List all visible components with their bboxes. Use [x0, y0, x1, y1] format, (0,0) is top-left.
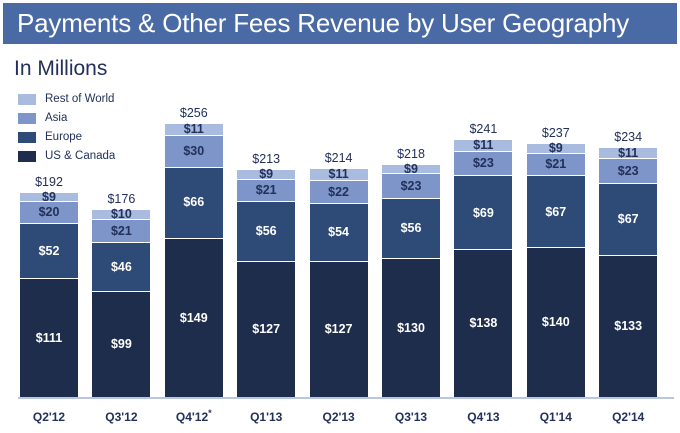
bar-segment-us-canada[interactable]: $149 — [165, 238, 223, 397]
bar-group[interactable]: $9$23$56$130$218Q3'13 — [382, 0, 440, 433]
bar-group[interactable]: $9$21$56$127$213Q1'13 — [237, 0, 295, 433]
x-axis-category-label: Q4'12* — [159, 408, 229, 424]
x-axis-category-label: Q1'13 — [231, 410, 301, 424]
stacked-bar[interactable]: $9$20$52$111 — [20, 192, 78, 398]
stacked-bar[interactable]: $9$21$56$127 — [237, 169, 295, 397]
bar-group[interactable]: $11$22$54$127$214Q2'13 — [310, 0, 368, 433]
bar-segment-europe[interactable]: $67 — [599, 183, 657, 255]
segment-value-label: $46 — [111, 261, 132, 274]
x-axis-category-label: Q1'14 — [521, 410, 591, 424]
bar-total-label: $192 — [20, 175, 78, 189]
segment-value-label: $67 — [545, 206, 566, 219]
bar-segment-rest-of-world[interactable]: $9 — [382, 164, 440, 174]
bar-segment-europe[interactable]: $69 — [454, 175, 512, 249]
bar-segment-asia[interactable]: $23 — [454, 151, 512, 176]
segment-value-label: $30 — [183, 145, 204, 158]
bar-segment-asia[interactable]: $21 — [527, 153, 585, 175]
stacked-bar[interactable]: $11$23$69$138 — [454, 139, 512, 397]
segment-value-label: $11 — [454, 139, 512, 152]
segment-value-label: $66 — [183, 196, 204, 209]
segment-value-label: $127 — [325, 323, 353, 336]
stacked-bar[interactable]: $11$23$67$133 — [599, 147, 657, 397]
bar-segment-asia[interactable]: $20 — [20, 201, 78, 222]
chart-root: Payments & Other Fees Revenue by User Ge… — [0, 0, 680, 433]
segment-value-label: $56 — [401, 222, 422, 235]
segment-value-label: $11 — [310, 168, 368, 181]
segment-value-label: $138 — [469, 317, 497, 330]
segment-value-label: $23 — [401, 180, 422, 193]
bar-group[interactable]: $10$21$46$99$176Q3'12 — [92, 0, 150, 433]
bar-segment-asia[interactable]: $23 — [599, 158, 657, 183]
segment-value-label: $127 — [252, 323, 280, 336]
bar-segment-rest-of-world[interactable]: $9 — [20, 192, 78, 202]
bar-segment-asia[interactable]: $23 — [382, 173, 440, 198]
segment-value-label: $11 — [165, 123, 223, 136]
bar-segment-rest-of-world[interactable]: $11 — [165, 123, 223, 135]
bar-segment-asia[interactable]: $21 — [237, 179, 295, 201]
bar-total-label: $218 — [382, 147, 440, 161]
segment-value-label: $130 — [397, 322, 425, 335]
plot-area: $9$20$52$111$192Q2'12$10$21$46$99$176Q3'… — [0, 0, 680, 433]
segment-value-label: $67 — [618, 213, 639, 226]
bar-total-label: $176 — [92, 192, 150, 206]
bar-total-label: $213 — [237, 152, 295, 166]
bar-segment-europe[interactable]: $56 — [237, 201, 295, 261]
bar-segment-us-canada[interactable]: $138 — [454, 249, 512, 397]
segment-value-label: $52 — [39, 245, 60, 258]
segment-value-label: $56 — [256, 225, 277, 238]
bar-segment-europe[interactable]: $56 — [382, 198, 440, 258]
segment-value-label: $133 — [614, 320, 642, 333]
segment-value-label: $22 — [328, 186, 349, 199]
bar-segment-us-canada[interactable]: $130 — [382, 258, 440, 397]
bar-segment-us-canada[interactable]: $133 — [599, 255, 657, 397]
bar-segment-europe[interactable]: $67 — [527, 175, 585, 247]
segment-value-label: $149 — [180, 312, 208, 325]
segment-value-label: $20 — [39, 206, 60, 219]
bar-segment-rest-of-world[interactable]: $11 — [310, 168, 368, 180]
bar-segment-europe[interactable]: $46 — [92, 242, 150, 291]
segment-value-label: $23 — [618, 165, 639, 178]
segment-value-label: $69 — [473, 207, 494, 220]
segment-value-label: $23 — [473, 157, 494, 170]
x-axis-category-label: Q2'14 — [593, 410, 663, 424]
bar-total-label: $237 — [527, 126, 585, 140]
segment-value-label: $99 — [111, 338, 132, 351]
stacked-bar[interactable]: $11$30$66$149 — [165, 123, 223, 397]
segment-value-label: $11 — [599, 147, 657, 160]
x-axis-category-label: Q2'13 — [304, 410, 374, 424]
stacked-bar[interactable]: $9$23$56$130 — [382, 164, 440, 397]
bar-group[interactable]: $11$23$69$138$241Q4'13 — [454, 0, 512, 433]
bar-segment-us-canada[interactable]: $111 — [20, 278, 78, 397]
bar-segment-asia[interactable]: $21 — [92, 219, 150, 241]
segment-value-label: $54 — [328, 226, 349, 239]
x-axis-category-label: Q4'13 — [448, 410, 518, 424]
x-axis-category-label: Q3'12 — [86, 410, 156, 424]
bar-total-label: $256 — [165, 106, 223, 120]
bar-total-label: $234 — [599, 130, 657, 144]
segment-value-label: $21 — [545, 158, 566, 171]
bar-segment-rest-of-world[interactable]: $10 — [92, 209, 150, 220]
footnote-marker: * — [208, 408, 212, 418]
bar-segment-rest-of-world[interactable]: $9 — [527, 143, 585, 153]
bar-segment-us-canada[interactable]: $99 — [92, 291, 150, 397]
bar-segment-rest-of-world[interactable]: $11 — [454, 139, 512, 151]
segment-value-label: $21 — [256, 184, 277, 197]
x-axis-category-label: Q3'13 — [376, 410, 446, 424]
bar-segment-us-canada[interactable]: $140 — [527, 247, 585, 397]
bar-segment-asia[interactable]: $30 — [165, 135, 223, 167]
x-axis-category-label: Q2'12 — [14, 410, 84, 424]
bar-total-label: $241 — [454, 122, 512, 136]
segment-value-label: $21 — [111, 225, 132, 238]
bar-segment-europe[interactable]: $54 — [310, 203, 368, 261]
segment-value-label: $140 — [542, 316, 570, 329]
bar-group[interactable]: $9$20$52$111$192Q2'12 — [20, 0, 78, 433]
bar-group[interactable]: $11$23$67$133$234Q2'14 — [599, 0, 657, 433]
bar-total-label: $214 — [310, 151, 368, 165]
stacked-bar[interactable]: $10$21$46$99 — [92, 209, 150, 397]
bar-segment-us-canada[interactable]: $127 — [310, 261, 368, 397]
stacked-bar[interactable]: $9$21$67$140 — [527, 143, 585, 397]
bar-group[interactable]: $9$21$67$140$237Q1'14 — [527, 0, 585, 433]
stacked-bar[interactable]: $11$22$54$127 — [310, 168, 368, 397]
bar-segment-europe[interactable]: $66 — [165, 167, 223, 238]
bar-segment-rest-of-world[interactable]: $9 — [237, 169, 295, 179]
bar-group[interactable]: $11$30$66$149$256Q4'12* — [165, 0, 223, 433]
segment-value-label: $111 — [36, 332, 62, 345]
bar-segment-asia[interactable]: $22 — [310, 180, 368, 204]
bar-segment-rest-of-world[interactable]: $11 — [599, 147, 657, 159]
bar-segment-us-canada[interactable]: $127 — [237, 261, 295, 397]
bar-segment-europe[interactable]: $52 — [20, 223, 78, 279]
